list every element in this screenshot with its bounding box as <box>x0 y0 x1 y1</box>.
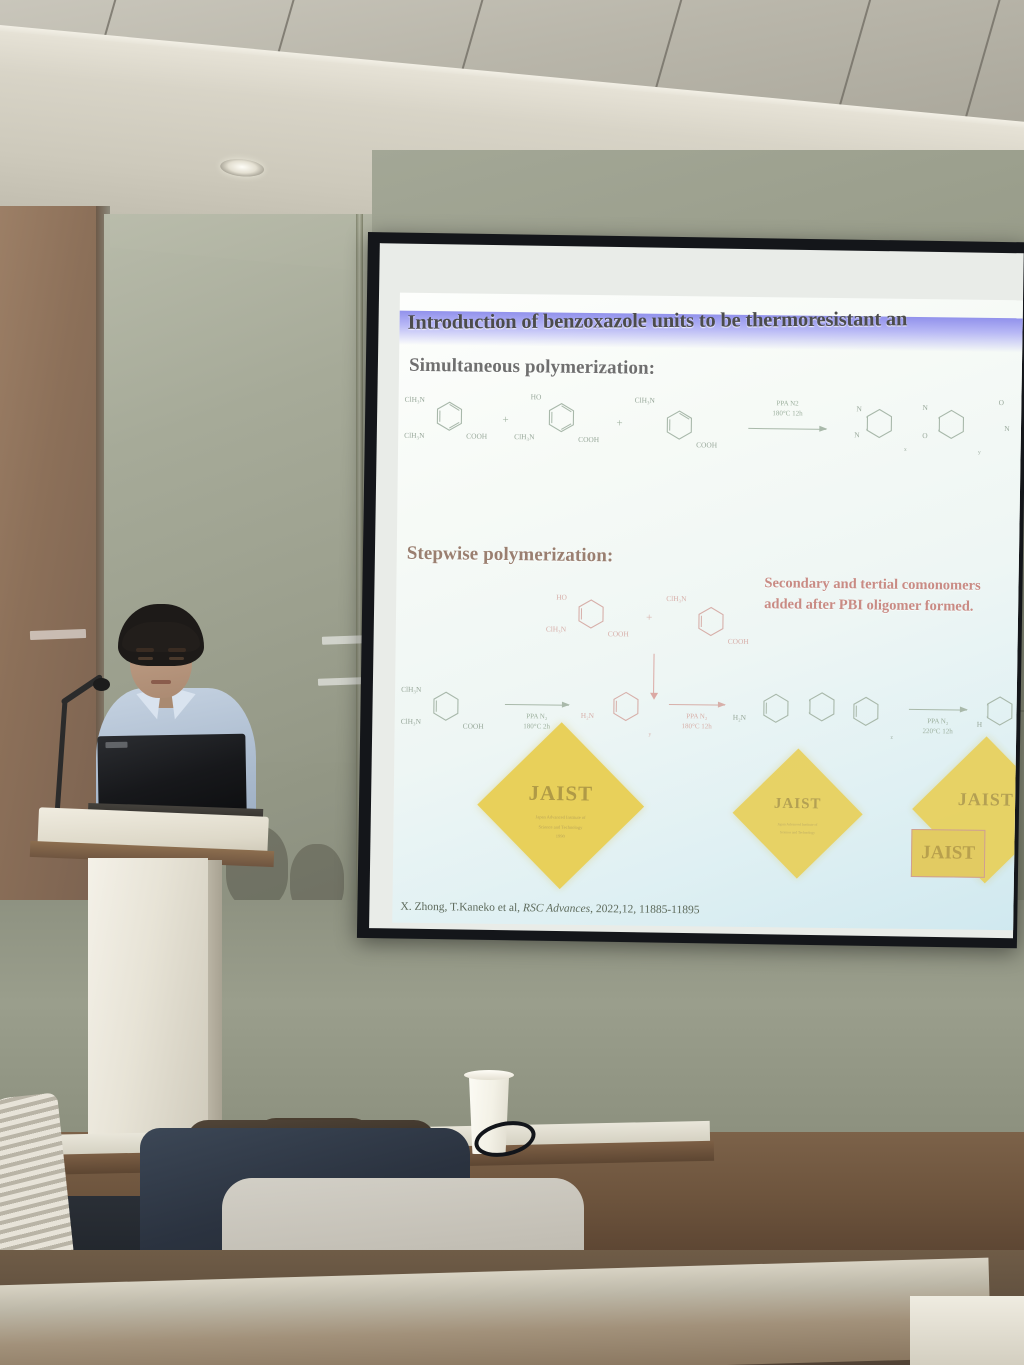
jaist-subtitle-2: Science and Technology <box>759 830 836 835</box>
reaction-arrow: PPA N2 180°C 12h <box>748 419 826 438</box>
benzene-ring <box>853 696 879 726</box>
reaction-condition-line1: PPA N2 <box>749 399 827 409</box>
jaist-subtitle-1: Japan Advanced Institute of <box>759 822 836 827</box>
presenter-fringe <box>122 622 200 652</box>
reaction-arrow-step2: PPA N₂ 180°C 12h <box>669 704 725 721</box>
citation-authors: X. Zhong, T.Kaneko et al, <box>400 901 520 914</box>
reaction-condition-line1: PPA N₂ <box>669 712 725 721</box>
benzoxazole-ring <box>938 409 964 439</box>
benzimidazole-ring <box>987 696 1013 726</box>
benzene-ring <box>698 606 724 636</box>
wood-column <box>0 206 106 906</box>
reaction-condition-line2: 220°C 12h <box>909 727 967 736</box>
reaction-arrow-step3: PPA N₂ 220°C 12h <box>909 709 967 726</box>
benzene-ring <box>433 691 459 721</box>
chem-label-amine: ClH₃N <box>546 624 566 633</box>
jaist-watermark: JAIST Japan Advanced Institute of Scienc… <box>751 767 844 860</box>
chem-label-oxygen: O <box>922 431 927 440</box>
benzene-ring <box>548 402 574 432</box>
chem-sub-y: y <box>649 732 652 738</box>
downlight <box>219 157 264 178</box>
jaist-watermark-rect: JAIST <box>911 829 986 878</box>
chem-label-oxygen: O <box>999 398 1004 407</box>
paper-cup-rim <box>464 1070 514 1080</box>
eyebrow-right <box>168 648 186 652</box>
chem-label-carboxyl: COOH <box>578 435 599 444</box>
plus-sign: + <box>646 612 652 624</box>
lecture-room-photo: Introduction of benzoxazole units to be … <box>0 0 1024 1365</box>
section-heading-simultaneous: Simultaneous polymerization: <box>409 355 655 380</box>
scheme-stepwise-comonomers: HO ClH₃N COOH + ClH₃N COOH <box>546 590 767 655</box>
chem-label-amine-plain: H₂N <box>581 711 594 720</box>
slide-title: Introduction of benzoxazole units to be … <box>408 307 1024 335</box>
jaist-diamond <box>733 749 863 879</box>
chem-label-nitrogen: N <box>923 403 928 412</box>
benzene-ring <box>613 691 639 721</box>
eyebrow-left <box>136 648 154 652</box>
scheme-simultaneous: ClH₃N ClH₃N COOH + HO ClH₃N COOH + <box>404 389 1024 477</box>
chem-label-carboxyl: COOH <box>608 629 629 638</box>
reaction-condition-line1: PPA N₂ <box>505 712 569 722</box>
chem-sub-y: y <box>978 450 981 456</box>
jaist-subtitle-1: Japan Advanced Institute of <box>511 814 610 821</box>
chem-label-carboxyl: COOH <box>463 721 484 730</box>
benzene-ring <box>578 599 604 629</box>
chem-label-amine: ClH₃N <box>514 432 534 441</box>
chem-label-amine: ClH₃N <box>401 685 421 694</box>
microphone-head <box>93 678 110 691</box>
presentation-slide: Introduction of benzoxazole units to be … <box>392 293 1023 931</box>
citation-rest: , 2022,12, 11885-11895 <box>590 903 699 916</box>
chem-label-carboxyl: COOH <box>696 440 717 449</box>
chem-label-amine: ClH₃N <box>405 395 425 404</box>
chem-label-amine: ClH₃N <box>401 717 421 726</box>
laptop-screen[interactable] <box>97 734 246 815</box>
jaist-brand-text: JAIST <box>921 842 975 865</box>
projection-screen: Introduction of benzoxazole units to be … <box>357 232 1024 948</box>
presenter-mouth <box>151 680 171 684</box>
citation-journal: RSC Advances <box>523 902 590 915</box>
reaction-condition-line2: 180°C 12h <box>669 722 725 731</box>
laptop-logo <box>105 742 127 748</box>
chem-label-carboxyl: COOH <box>466 431 487 440</box>
chem-label-amine: ClH₃N <box>635 396 655 405</box>
benzimidazole-ring <box>866 408 892 438</box>
podium-body: JIANG NAN UNIVERSITY <box>88 858 208 1158</box>
eye-left <box>138 657 153 660</box>
scheme-stepwise-main: ClH₃N ClH₃N COOH PPA N₂ 180°C 2h H₂N <box>400 681 1023 761</box>
note-line-2: added after PBI oligomer formed. <box>764 594 1024 619</box>
chem-label-nitrogen: N <box>857 404 862 413</box>
chem-sub-z: z <box>891 735 893 741</box>
reaction-condition-line2: 180°C 12h <box>748 409 826 419</box>
chem-label-hydroxy: HO <box>556 593 567 602</box>
chem-label-carboxyl: COOH <box>728 637 749 646</box>
front-desk-right-section <box>910 1296 1024 1365</box>
reaction-condition-line1: PPA N₂ <box>909 717 967 726</box>
benzene-ring <box>436 401 462 431</box>
chem-label-nh: H <box>977 720 982 729</box>
jaist-year: 1990 <box>511 833 610 840</box>
screen-surface: Introduction of benzoxazole units to be … <box>369 243 1024 938</box>
chem-label-nh: N <box>1004 424 1009 433</box>
section-heading-stepwise: Stepwise polymerization: <box>407 543 614 568</box>
annotation-note: Secondary and tertial comonomers added a… <box>764 573 1024 619</box>
chem-label-amine-plain: H₂N <box>733 713 746 722</box>
benzoxazole-ring <box>809 692 835 722</box>
eye-right <box>169 657 184 660</box>
jaist-brand-text: JAIST <box>502 781 620 807</box>
wall-light-strip <box>322 635 366 645</box>
chem-label-amine: ClH₃N <box>666 594 686 603</box>
chem-label-nh: N <box>854 430 859 439</box>
chem-label-hydroxy: HO <box>531 392 542 401</box>
reaction-arrow-step1: PPA N₂ 180°C 2h <box>505 704 569 721</box>
chem-label-amine: ClH₃N <box>404 431 424 440</box>
jaist-brand-text: JAIST <box>752 795 844 813</box>
chem-sub-x: x <box>904 447 907 453</box>
benzene-ring <box>666 410 692 440</box>
jaist-watermark: JAIST Japan Advanced Institute of Scienc… <box>501 746 620 865</box>
jaist-brand-text: JAIST <box>934 788 1024 810</box>
slide-citation: X. Zhong, T.Kaneko et al, RSC Advances, … <box>400 901 699 917</box>
jaist-subtitle-2: Science and Technology <box>511 824 610 831</box>
benzene-ring <box>763 693 789 723</box>
plus-sign: + <box>616 417 622 429</box>
plus-sign: + <box>502 414 508 426</box>
